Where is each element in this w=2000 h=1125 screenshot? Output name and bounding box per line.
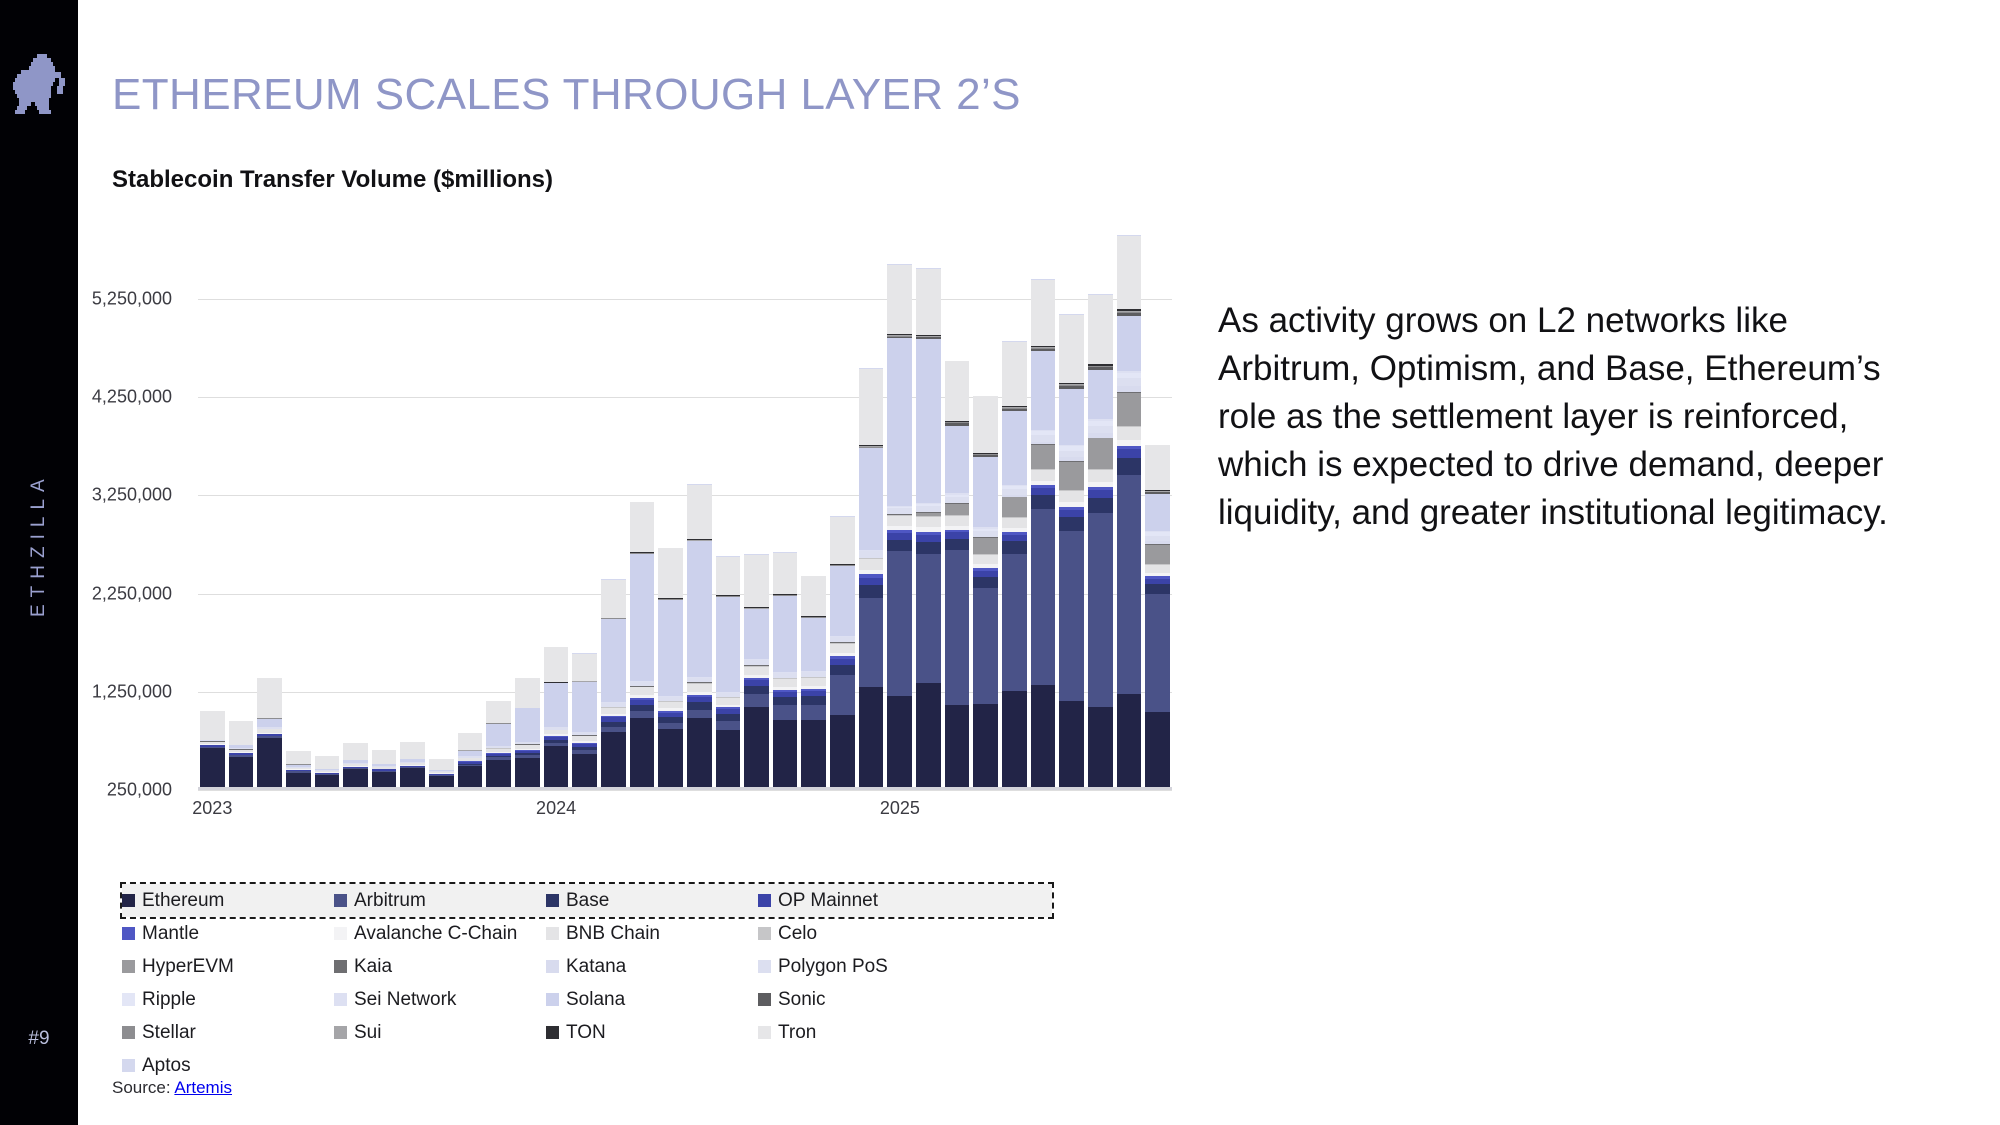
chart-title: Stablecoin Transfer Volume ($millions) (112, 166, 553, 194)
bar-segment (830, 665, 855, 675)
body-paragraph: As activity grows on L2 networks like Ar… (1218, 297, 1918, 537)
bar-column[interactable] (370, 250, 399, 790)
bar-segment (343, 743, 368, 760)
bar-segment (945, 705, 970, 790)
bar-segment (744, 609, 769, 659)
bar-segment (945, 516, 970, 526)
bar-column[interactable] (341, 250, 370, 790)
stacked-bar (1002, 341, 1027, 790)
legend-item[interactable]: Sei Network (334, 989, 546, 1011)
bar-segment (1088, 498, 1113, 513)
bar-segment (1088, 490, 1113, 498)
bar-column[interactable] (198, 250, 227, 790)
bar-segment (1088, 470, 1113, 482)
bar-segment (572, 682, 597, 732)
bar-segment (744, 555, 769, 607)
bar-segment (486, 701, 511, 723)
stacked-bar (773, 552, 798, 790)
bar-segment (916, 517, 941, 528)
bar-column[interactable] (628, 250, 657, 790)
bar-column[interactable] (542, 250, 571, 790)
bar-segment (859, 598, 884, 687)
bar-segment (945, 361, 970, 420)
bar-segment (887, 533, 912, 540)
stacked-bar (1088, 294, 1113, 790)
bar-segment (973, 704, 998, 790)
bar-segment (1117, 316, 1142, 371)
legend-label: Ripple (142, 989, 196, 1011)
legend-item[interactable]: Avalanche C-Chain (334, 923, 546, 945)
y-axis-tick-label: 4,250,000 (0, 387, 172, 408)
bar-segment (315, 756, 340, 768)
bar-segment (229, 757, 254, 790)
bar-segment (1145, 494, 1170, 531)
stacked-bar (229, 721, 254, 790)
bar-column[interactable] (1115, 250, 1144, 790)
bar-column[interactable] (313, 250, 342, 790)
bar-segment (458, 733, 483, 751)
chart-legend: EthereumArbitrumBaseOP MainnetMantleAval… (122, 884, 1052, 1082)
bar-segment (1031, 495, 1056, 508)
bar-segment (630, 718, 655, 790)
bar-segment (1059, 491, 1084, 502)
legend-label: Solana (566, 989, 625, 1011)
bar-segment (1031, 470, 1056, 481)
stacked-bar (1117, 235, 1142, 790)
bar-segment (773, 720, 798, 790)
legend-row: RippleSei NetworkSolanaSonic (122, 983, 1052, 1016)
stacked-bar (801, 576, 826, 790)
bar-segment (1117, 236, 1142, 309)
bar-segment (945, 539, 970, 551)
x-axis-tick-label: 2023 (192, 798, 232, 819)
bar-segment (773, 705, 798, 719)
stacked-bar (601, 579, 626, 790)
bar-segment (1059, 451, 1084, 458)
bar-segment (1117, 378, 1142, 386)
bar-segment (1002, 518, 1027, 528)
bar-segment (486, 724, 511, 746)
bar-column[interactable] (971, 250, 1000, 790)
legend-item[interactable]: TON (546, 1022, 758, 1044)
legend-label: Celo (778, 923, 817, 945)
bar-column[interactable] (284, 250, 313, 790)
bar-column[interactable] (656, 250, 685, 790)
bar-segment (687, 485, 712, 540)
bar-column[interactable] (599, 250, 628, 790)
legend-item[interactable]: Ripple (122, 989, 334, 1011)
bar-segment (1088, 426, 1113, 433)
legend-swatch-icon (758, 1026, 771, 1039)
bar-segment (859, 369, 884, 445)
bar-column[interactable] (1086, 250, 1115, 790)
bar-segment (1059, 701, 1084, 790)
legend-row: Aptos (122, 1049, 1052, 1082)
stacked-bar (1145, 445, 1170, 790)
bar-segment (859, 578, 884, 585)
bar-segment (572, 654, 597, 681)
legend-swatch-icon (122, 993, 135, 1006)
bar-segment (973, 538, 998, 555)
bar-segment (257, 738, 282, 790)
bar-column[interactable] (1000, 250, 1029, 790)
legend-label: Tron (778, 1022, 816, 1044)
legend-label: TON (566, 1022, 606, 1044)
legend-label: BNB Chain (566, 923, 660, 945)
legend-swatch-icon (546, 894, 559, 907)
source-link[interactable]: Artemis (174, 1078, 232, 1097)
legend-row: EthereumArbitrumBaseOP Mainnet (122, 884, 1052, 917)
legend-swatch-icon (334, 960, 347, 973)
bar-segment (1002, 541, 1027, 553)
bar-segment (887, 551, 912, 696)
bar-column[interactable] (714, 250, 743, 790)
legend-row: StellarSuiTONTron (122, 1016, 1052, 1049)
legend-label: Avalanche C-Chain (354, 923, 517, 945)
bar-segment (716, 714, 741, 721)
stacked-bar (286, 751, 311, 790)
stacked-bar (372, 749, 397, 790)
bar-column[interactable] (398, 250, 427, 790)
bar-segment (544, 683, 569, 727)
stacked-bar (716, 556, 741, 790)
legend-label: Mantle (142, 923, 199, 945)
stacked-bar (687, 484, 712, 790)
bar-segment (257, 678, 282, 718)
bar-segment (601, 732, 626, 790)
bar-column[interactable] (227, 250, 256, 790)
brand-wordmark: ETHZILLA (0, 430, 78, 660)
stacked-bar (973, 395, 998, 790)
stacked-bar (1031, 279, 1056, 790)
bar-segment (830, 517, 855, 564)
legend-item[interactable]: BNB Chain (546, 923, 758, 945)
bar-segment (716, 730, 741, 790)
bar-segment (515, 708, 540, 742)
bar-segment (801, 696, 826, 704)
bar-segment (773, 679, 798, 687)
source-note: Source: Artemis (112, 1078, 232, 1098)
bar-segment (1059, 389, 1084, 445)
bar-segment (887, 516, 912, 526)
stacked-bar (830, 516, 855, 790)
bar-segment (744, 694, 769, 706)
bar-segment (887, 338, 912, 506)
x-axis-tick-label: 2024 (536, 798, 576, 819)
legend-item[interactable]: OP Mainnet (758, 890, 970, 912)
legend-item[interactable]: Katana (546, 956, 758, 978)
legend-item[interactable]: Stellar (122, 1022, 334, 1044)
bar-column[interactable] (771, 250, 800, 790)
stacked-bar (400, 741, 425, 790)
bar-segment (1059, 462, 1084, 490)
bar-segment (1145, 565, 1170, 573)
bar-segment (601, 619, 626, 703)
stacked-bar (744, 554, 769, 790)
legend-label: Base (566, 890, 609, 912)
bar-segment (1088, 295, 1113, 364)
bar-segment (1145, 545, 1170, 564)
bar-segment (1031, 351, 1056, 430)
legend-label: Sei Network (354, 989, 456, 1011)
bar-segment (945, 504, 970, 515)
stacked-bar (859, 368, 884, 790)
bar-segment (973, 588, 998, 704)
bar-column[interactable] (1029, 250, 1058, 790)
legend-swatch-icon (122, 1059, 135, 1072)
bar-segment (716, 698, 741, 705)
legend-item[interactable]: Arbitrum (334, 890, 546, 912)
y-axis-tick-label: 5,250,000 (0, 289, 172, 310)
stacked-bar (315, 756, 340, 790)
bar-segment (544, 746, 569, 790)
bar-segment (630, 502, 655, 552)
bar-segment (486, 760, 511, 790)
bar-segment (200, 711, 225, 740)
bar-segment (887, 696, 912, 790)
bar-segment (1002, 691, 1027, 790)
legend-swatch-icon (758, 960, 771, 973)
bar-segment (572, 754, 597, 790)
legend-swatch-icon (546, 1026, 559, 1039)
bar-segment (687, 684, 712, 692)
bar-segment (1117, 458, 1142, 475)
gridline (198, 790, 1172, 791)
bar-segment (687, 702, 712, 709)
bar-segment (544, 647, 569, 682)
x-axis-line (198, 787, 1172, 790)
bar-segment (515, 678, 540, 708)
bar-segment (945, 426, 970, 494)
legend-swatch-icon (122, 927, 135, 940)
stacked-bar (200, 711, 225, 790)
legend-label: Sonic (778, 989, 826, 1011)
bar-segment (200, 748, 225, 790)
stacked-bar (572, 653, 597, 790)
bar-column[interactable] (1143, 250, 1172, 790)
legend-label: Polygon PoS (778, 956, 888, 978)
bar-segment (229, 721, 254, 745)
stacked-bar (945, 361, 970, 791)
bar-column[interactable] (685, 250, 714, 790)
bar-segment (1031, 280, 1056, 346)
legend-row: HyperEVMKaiaKatanaPolygon PoS (122, 950, 1052, 983)
legend-row: MantleAvalanche C-ChainBNB ChainCelo (122, 917, 1052, 950)
bar-segment (1117, 694, 1142, 790)
bar-segment (830, 644, 855, 653)
bar-column[interactable] (857, 250, 886, 790)
legend-label: Arbitrum (354, 890, 426, 912)
bar-segment (1088, 370, 1113, 419)
legend-swatch-icon (334, 1026, 347, 1039)
stacked-bar (515, 677, 540, 790)
stacked-bar (544, 647, 569, 790)
bar-segment (744, 707, 769, 790)
bar-segment (1117, 449, 1142, 458)
bar-column[interactable] (427, 250, 456, 790)
bar-segment (1031, 488, 1056, 495)
bar-segment (1117, 475, 1142, 694)
y-axis-tick-label: 1,250,000 (0, 681, 172, 702)
bar-segment (973, 457, 998, 527)
stacked-bar (458, 733, 483, 790)
legend-label: Kaia (354, 956, 392, 978)
bar-segment (887, 265, 912, 334)
bar-segment (1002, 554, 1027, 692)
legend-label: Aptos (142, 1055, 191, 1077)
legend-item[interactable]: Polygon PoS (758, 956, 970, 978)
bar-segment (1059, 315, 1084, 383)
bar-segment (630, 554, 655, 681)
legend-label: Katana (566, 956, 626, 978)
bar-segment (916, 554, 941, 682)
bar-column[interactable] (742, 250, 771, 790)
legend-label: OP Mainnet (778, 890, 878, 912)
bar-segment (1059, 517, 1084, 531)
bar-segment (1031, 445, 1056, 469)
legend-item[interactable]: Base (546, 890, 758, 912)
bar-segment (630, 687, 655, 694)
legend-item[interactable]: Kaia (334, 956, 546, 978)
legend-swatch-icon (758, 927, 771, 940)
bar-segment (1145, 594, 1170, 711)
bar-column[interactable] (1057, 250, 1086, 790)
legend-label: Stellar (142, 1022, 196, 1044)
bar-segment (1031, 509, 1056, 685)
page-number: #9 (0, 1028, 78, 1050)
bar-column[interactable] (943, 250, 972, 790)
legend-label: HyperEVM (142, 956, 234, 978)
bar-segment (859, 448, 884, 550)
x-axis-tick-label: 2025 (880, 798, 920, 819)
bar-segment (429, 759, 454, 770)
legend-swatch-icon (334, 993, 347, 1006)
bar-segment (1145, 445, 1170, 490)
legend-swatch-icon (334, 927, 347, 940)
bar-segment (658, 600, 683, 696)
bar-segment (687, 710, 712, 719)
legend-item[interactable]: Solana (546, 989, 758, 1011)
bar-segment (945, 550, 970, 704)
stacked-bar (630, 502, 655, 790)
bar-segment (716, 597, 741, 692)
bar-segment (515, 758, 540, 790)
bar-column[interactable] (799, 250, 828, 790)
bar-column[interactable] (885, 250, 914, 790)
bar-segment (801, 720, 826, 790)
y-axis-tick-label: 2,250,000 (0, 583, 172, 604)
legend-item[interactable]: HyperEVM (122, 956, 334, 978)
bar-segment (400, 742, 425, 759)
stacked-bar (887, 264, 912, 790)
page-title: ETHEREUM SCALES THROUGH LAYER 2’S (112, 70, 1021, 120)
stacked-bar-chart: 250,0001,250,0002,250,0003,250,0004,250,… (112, 250, 1172, 790)
legend-item[interactable]: Sui (334, 1022, 546, 1044)
legend-swatch-icon (758, 993, 771, 1006)
legend-item[interactable]: Tron (758, 1022, 970, 1044)
bar-segment (773, 596, 798, 673)
bar-segment (1145, 712, 1170, 790)
legend-item[interactable]: Mantle (122, 923, 334, 945)
bar-segment (658, 729, 683, 791)
stacked-bar (658, 548, 683, 790)
stacked-bar (486, 701, 511, 790)
bar-column[interactable] (513, 250, 542, 790)
legend-item[interactable]: Celo (758, 923, 970, 945)
godzilla-pixel-logo-icon (9, 52, 69, 118)
stacked-bar (429, 759, 454, 790)
stacked-bar (1059, 314, 1084, 790)
bar-segment (1088, 513, 1113, 707)
bar-segment (801, 576, 826, 616)
legend-swatch-icon (758, 894, 771, 907)
legend-swatch-icon (122, 960, 135, 973)
bar-segment (1002, 535, 1027, 542)
bar-column[interactable] (914, 250, 943, 790)
bar-segment (916, 535, 941, 542)
bar-segment (1002, 411, 1027, 485)
bar-segment (372, 750, 397, 765)
bar-segment (859, 687, 884, 790)
bar-segment (1002, 342, 1027, 406)
legend-swatch-icon (546, 960, 559, 973)
legend-item[interactable]: Ethereum (122, 890, 334, 912)
bar-segment (801, 618, 826, 671)
bar-column[interactable] (828, 250, 857, 790)
legend-swatch-icon (334, 894, 347, 907)
bar-segment (1088, 438, 1113, 469)
bar-segment (916, 269, 941, 335)
source-prefix: Source: (112, 1078, 174, 1097)
bar-segment (773, 697, 798, 705)
bar-segment (973, 577, 998, 588)
stacked-bar (916, 268, 941, 790)
bar-segment (973, 555, 998, 564)
bar-segment (286, 751, 311, 764)
bar-segment (687, 718, 712, 790)
bar-segment (801, 678, 826, 686)
bar-segment (601, 580, 626, 618)
bar-segment (716, 721, 741, 731)
bar-segment (257, 719, 282, 727)
legend-label: Ethereum (142, 890, 224, 912)
bar-segment (1031, 685, 1056, 790)
y-axis-tick-label: 250,000 (0, 780, 172, 801)
bar-segment (744, 667, 769, 675)
bar-column[interactable] (255, 250, 284, 790)
legend-swatch-icon (546, 927, 559, 940)
bar-segment (973, 396, 998, 452)
bar-segment (859, 585, 884, 598)
bar-segment (830, 566, 855, 635)
y-axis-tick-label: 3,250,000 (0, 485, 172, 506)
bar-segment (830, 675, 855, 715)
bar-segment (1117, 393, 1142, 426)
bar-segment (916, 542, 941, 554)
bar-segment (1002, 497, 1027, 517)
bar-segment (1088, 707, 1113, 790)
left-rail: ETHZILLA #9 (0, 0, 78, 1125)
bar-column[interactable] (570, 250, 599, 790)
bar-segment (1117, 427, 1142, 440)
bar-column[interactable] (484, 250, 513, 790)
legend-item[interactable]: Aptos (122, 1055, 334, 1077)
legend-swatch-icon (122, 1026, 135, 1039)
legend-item[interactable]: Sonic (758, 989, 970, 1011)
bar-segment (773, 553, 798, 594)
stacked-bar (343, 743, 368, 790)
bar-column[interactable] (456, 250, 485, 790)
